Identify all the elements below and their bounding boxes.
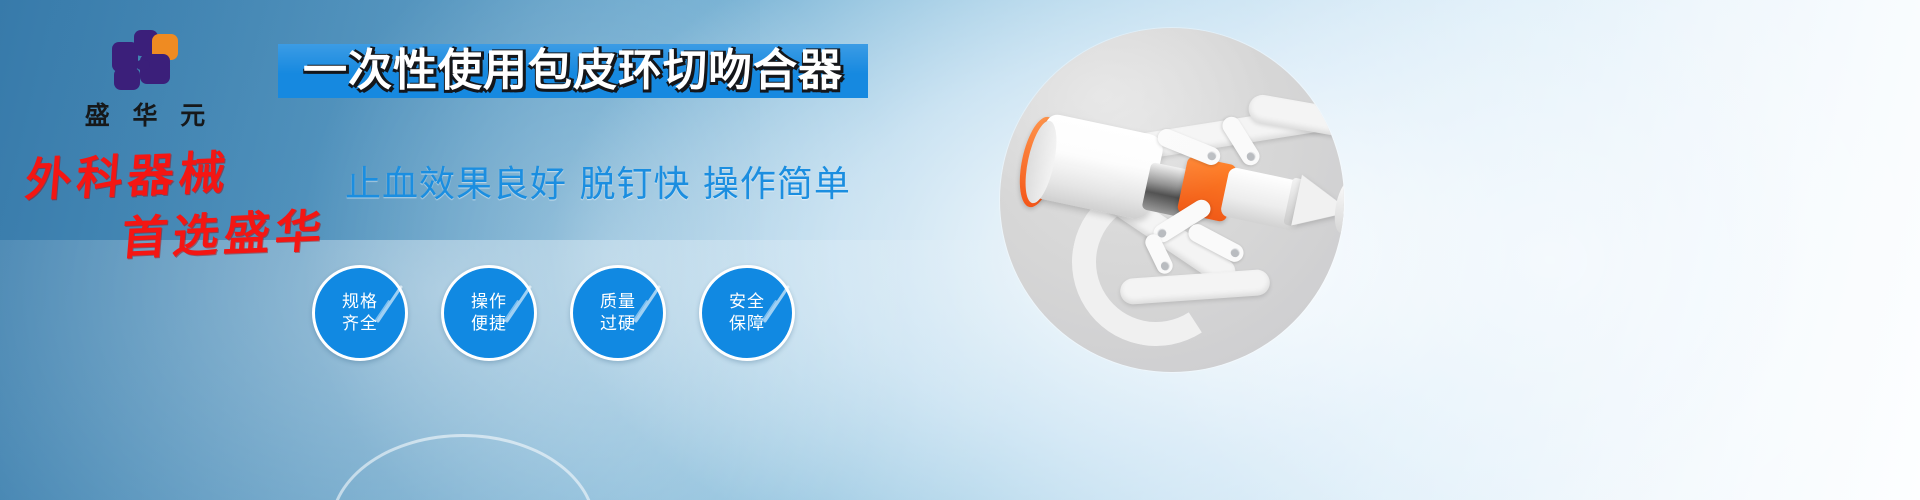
feature-4-line-1: 安全: [729, 291, 765, 313]
brand-logo[interactable]: 盛 华 元: [60, 30, 230, 132]
feature-circle-list: 规格 齐全 操作 便捷 质量 过硬 安全 保障: [312, 265, 795, 361]
red-calligraphy-slogan: 外科器械 首选盛华: [18, 150, 348, 258]
product-banner: 盛 华 元 外科器械 首选盛华 一次性使用包皮环切吻合器 止血效果良好 脱钉快 …: [0, 0, 1920, 500]
feature-circle-2[interactable]: 操作 便捷: [441, 265, 537, 361]
feature-4-line-2: 保障: [729, 313, 765, 335]
decorative-arc: [330, 434, 596, 500]
circle-gloss-icon: [763, 285, 790, 323]
feature-circle-3[interactable]: 质量 过硬: [570, 265, 666, 361]
feature-2-line-1: 操作: [471, 291, 507, 313]
feature-3-line-1: 质量: [600, 291, 636, 313]
feature-1-line-2: 齐全: [342, 313, 378, 335]
subtitle: 止血效果良好 脱钉快 操作简单: [345, 165, 851, 205]
brand-name: 盛 华 元: [60, 96, 230, 132]
circle-gloss-icon: [505, 285, 532, 323]
feature-2-line-2: 便捷: [471, 313, 507, 335]
slogan-line-2: 首选盛华: [120, 206, 351, 263]
circle-gloss-icon: [376, 285, 403, 323]
main-title: 一次性使用包皮环切吻合器: [303, 48, 843, 94]
feature-circle-1[interactable]: 规格 齐全: [312, 265, 408, 361]
circle-gloss-icon: [634, 285, 661, 323]
feature-3-line-2: 过硬: [600, 313, 636, 335]
feature-circle-4[interactable]: 安全 保障: [699, 265, 795, 361]
slogan-line-1: 外科器械: [23, 144, 350, 204]
feature-1-line-1: 规格: [342, 291, 378, 313]
product-photo: [1000, 28, 1344, 372]
logo-blocks-icon: [112, 30, 178, 90]
main-title-bar: 一次性使用包皮环切吻合器: [278, 44, 868, 98]
